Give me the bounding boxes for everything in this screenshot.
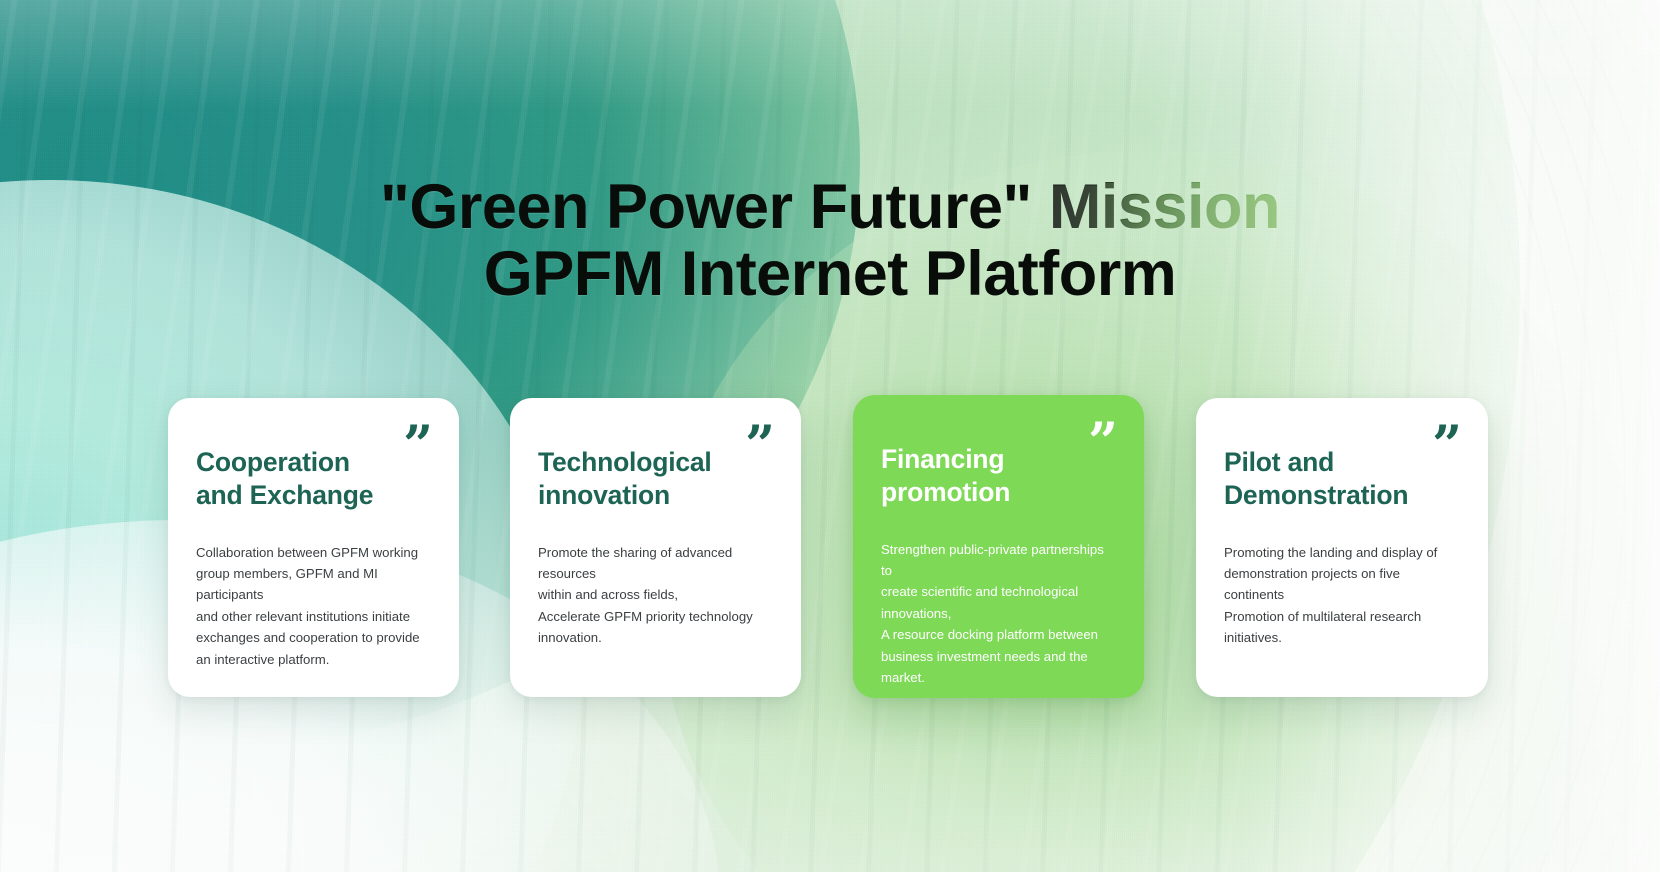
feature-card-list: ” Cooperation and Exchange Collaboration… xyxy=(0,0,1660,872)
feature-card-body: Strengthen public-private partnerships t… xyxy=(881,539,1114,689)
feature-card-cooperation-and-exchange[interactable]: ” Cooperation and Exchange Collaboration… xyxy=(168,398,459,697)
feature-card-title: Cooperation and Exchange xyxy=(196,446,429,512)
feature-card-title: Pilot and Demonstration xyxy=(1224,446,1458,512)
quote-mark-icon: ” xyxy=(403,420,433,472)
slide-canvas: "Green Power Future" Mission GPFM Intern… xyxy=(0,0,1660,872)
feature-card-body: Promoting the landing and display of dem… xyxy=(1224,542,1458,649)
feature-card-body: Collaboration between GPFM working group… xyxy=(196,542,429,670)
feature-card-technological-innovation[interactable]: ” Technological innovation Promote the s… xyxy=(510,398,801,697)
feature-card-title: Financing promotion xyxy=(881,443,1114,509)
feature-card-financing-promotion[interactable]: ” Financing promotion Strengthen public-… xyxy=(853,395,1144,698)
feature-card-body: Promote the sharing of advanced resource… xyxy=(538,542,771,649)
feature-card-title: Technological innovation xyxy=(538,446,771,512)
feature-card-pilot-and-demonstration[interactable]: ” Pilot and Demonstration Promoting the … xyxy=(1196,398,1488,697)
quote-mark-icon: ” xyxy=(1088,417,1118,469)
quote-mark-icon: ” xyxy=(745,420,775,472)
quote-mark-icon: ” xyxy=(1432,420,1462,472)
